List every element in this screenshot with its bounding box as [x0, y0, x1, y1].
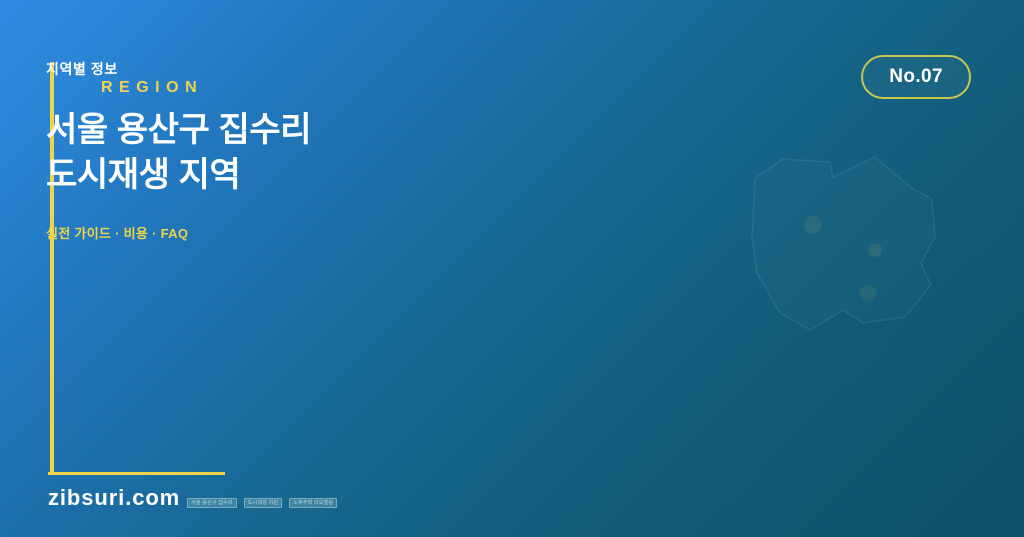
map-polygon-decoration	[735, 145, 950, 340]
tag-chip: 노후주택 리모델링	[289, 498, 337, 508]
page-title: 서울 용산구 집수리 도시재생 지역	[46, 108, 566, 198]
slide-canvas: No.07 지역별 정보 REGION 서울 용산구 집수리 도시재생 지역 실…	[0, 0, 1024, 537]
tag-chip: 서울 용산구 집수리	[187, 498, 237, 508]
footer-divider-rule	[48, 472, 225, 475]
eyebrow-korean-label: 지역별 정보	[46, 62, 566, 77]
slide-number-badge: No.07	[861, 55, 971, 99]
subtitle-text: 실전 가이드 · 비용 · FAQ	[46, 226, 566, 242]
eyebrow-english-label: REGION	[101, 79, 566, 97]
content-column: 지역별 정보 REGION 서울 용산구 집수리 도시재생 지역 실전 가이드 …	[46, 62, 566, 242]
page-title-line-1: 서울 용산구 집수리	[46, 108, 566, 153]
tag-chip: 도시재생 지원	[244, 498, 282, 508]
footer-tag-chips: 서울 용산구 집수리 도시재생 지원 노후주택 리모델링	[187, 498, 337, 509]
brand-wordmark: zibsuri.com	[48, 487, 180, 509]
footer: zibsuri.com 서울 용산구 집수리 도시재생 지원 노후주택 리모델링	[48, 487, 337, 509]
page-title-line-2: 도시재생 지역	[46, 153, 566, 198]
